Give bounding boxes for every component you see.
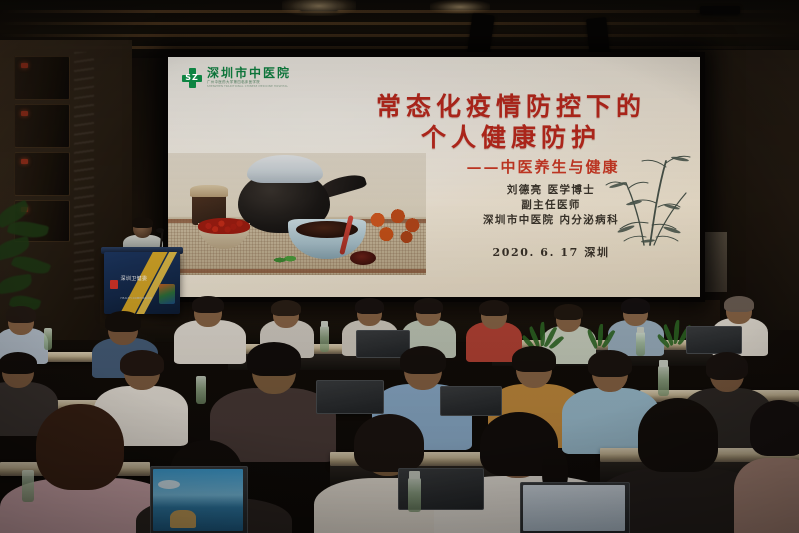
mint-leaves (272, 253, 298, 267)
podium-badge-icon (159, 284, 175, 304)
attendee-hair (400, 346, 446, 374)
presenter-hair (132, 217, 153, 228)
attendee-hair (271, 300, 301, 316)
green-cross-icon: SZ (182, 68, 202, 88)
presenter-affiliation: 深圳市中医院 内分泌病科 (436, 213, 666, 228)
loudspeaker-cabinet (14, 56, 70, 100)
presentation-slide: SZ 深圳市中医院 广州中医药大学第四临床医学院 SHENZHEN TRADIT… (168, 57, 700, 297)
microphone-icon (156, 228, 164, 233)
loudspeaker-cabinet (14, 152, 70, 196)
podium-logo-mark-icon (110, 280, 118, 289)
attendee (406, 298, 452, 352)
attendee-hair (479, 300, 509, 316)
attendee (620, 398, 732, 533)
attendee-hair (120, 350, 164, 376)
podium-logo-sub: HEALTH COMMISSION (120, 297, 151, 300)
laptop[interactable] (686, 326, 740, 352)
attendee (232, 344, 316, 444)
hospital-name-cn: 深圳市中医院 (207, 67, 291, 80)
attendee-hair (621, 298, 650, 314)
presenter-name: 刘德亮 医学博士 (436, 183, 666, 198)
laptop-screen (523, 485, 625, 531)
cable-bundle (74, 52, 94, 302)
attendee (742, 400, 799, 533)
laptop-screen (153, 469, 243, 531)
bottle-cap (637, 327, 644, 333)
attendee-hair (6, 306, 36, 323)
attendee-hair (354, 414, 424, 472)
laptop[interactable] (316, 380, 382, 412)
tcm-herbal-photo (168, 153, 426, 275)
attendee-hair (750, 400, 799, 456)
attendee-hair (105, 311, 141, 332)
water-bottle (22, 470, 34, 502)
speaker-indicator-led (21, 63, 28, 68)
attendee-hair (638, 398, 718, 472)
logo-mark-letters: SZ (182, 73, 202, 83)
water-bottle (408, 478, 421, 512)
herb-jar-contents (190, 185, 228, 197)
water-bottle (196, 376, 206, 404)
slide-date: 2020. 6. 17 深圳 (436, 244, 666, 260)
dried-herbs (366, 209, 424, 245)
laptop[interactable] (150, 466, 246, 533)
attendee-hair (247, 342, 301, 376)
attendee (20, 404, 140, 533)
attendee-hair (355, 298, 384, 314)
laptop[interactable] (440, 386, 500, 414)
spoon-bowl (350, 251, 376, 265)
attendee-hair (414, 298, 443, 314)
podium-logo-text: 深圳卫健委 (120, 276, 147, 282)
attendee-hair (512, 346, 556, 372)
laptop-lid (686, 326, 742, 354)
attendee-hair (588, 350, 632, 377)
lecture-hall-photo: SZ 深圳市中医院 广州中医药大学第四临床医学院 SHENZHEN TRADIT… (0, 0, 799, 533)
bottle-cap (321, 321, 328, 327)
presenter-rank: 副主任医师 (436, 198, 666, 213)
attendee-hair (724, 296, 754, 312)
attendee (182, 296, 238, 358)
slide-title-line-1: 常态化疫情防控下的 (346, 91, 676, 122)
attendee-hair (192, 296, 224, 313)
hospital-name-sub-en: SHENZHEN TRADITIONAL CHINESE MEDICINE HO… (207, 85, 291, 89)
attendee-hair (706, 352, 748, 380)
hospital-logo-text: 深圳市中医院 广州中医药大学第四临床医学院 SHENZHEN TRADITION… (207, 67, 291, 89)
goji-berries (198, 218, 250, 234)
water-bottle (320, 326, 329, 352)
bottle-cap (659, 360, 668, 367)
speaker-indicator-led (21, 111, 28, 116)
attendee-hair (0, 352, 37, 374)
attendee-torso (734, 458, 799, 533)
laptop[interactable] (520, 482, 628, 533)
podium-banner: 深圳卫健委 HEALTH COMMISSION (104, 252, 180, 314)
speaker-indicator-led (21, 159, 28, 164)
loudspeaker-cabinet (14, 104, 70, 148)
water-bottle (658, 366, 669, 396)
attendee-hair (554, 304, 583, 320)
water-bottle (44, 328, 52, 350)
desk-plant (586, 324, 616, 350)
bottle-cap (409, 471, 420, 479)
hospital-logo: SZ 深圳市中医院 广州中医药大学第四临床医学院 SHENZHEN TRADIT… (178, 65, 295, 91)
attendee-hair (36, 404, 124, 490)
laptop-lid (316, 380, 384, 414)
presenter-info: 刘德亮 医学博士 副主任医师 深圳市中医院 内分泌病科 (436, 183, 666, 228)
